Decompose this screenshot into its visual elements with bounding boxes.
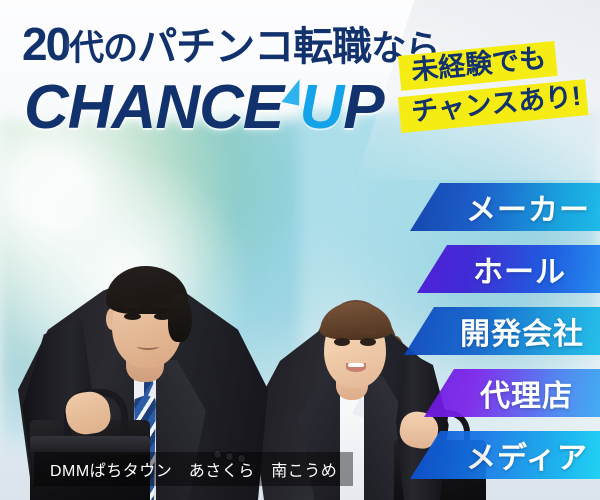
category-list: メーカー ホール 開発会社 代理店 メディア <box>0 0 600 500</box>
category-label: メーカー <box>466 185 590 229</box>
category-bar-agency[interactable]: 代理店 <box>424 369 600 417</box>
category-label: ホール <box>473 247 566 291</box>
category-bar-hall[interactable]: ホール <box>417 245 600 293</box>
category-label: 代理店 <box>480 371 573 415</box>
category-bar-media[interactable]: メディア <box>410 431 600 479</box>
category-label: メディア <box>466 433 588 477</box>
credit-text: DMMぱちタウン あさくら 南こうめ <box>50 457 337 481</box>
category-bar-developer[interactable]: 開発会社 <box>404 307 600 355</box>
category-bar-maker[interactable]: メーカー <box>410 183 600 231</box>
banner-ad[interactable]: 20代のパチンコ転職なら CHANCE UP 未経験でも チャンスあり! メーカ… <box>0 0 600 500</box>
credit-strip: DMMぱちタウン あさくら 南こうめ <box>34 452 353 486</box>
category-label: 開発会社 <box>460 309 584 353</box>
